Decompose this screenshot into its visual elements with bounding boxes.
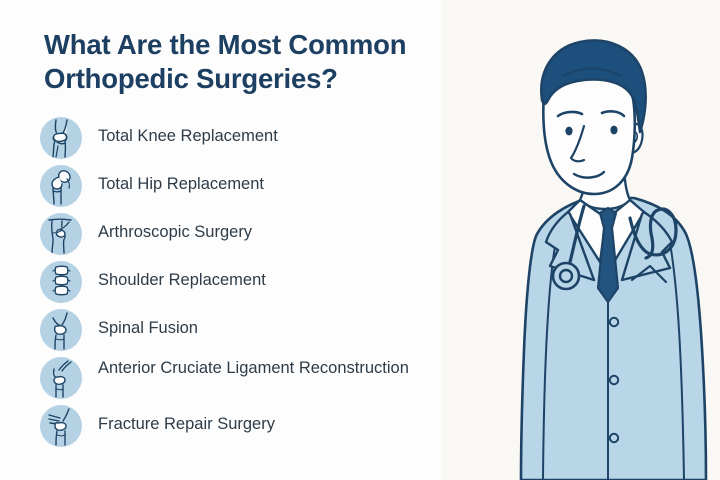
- list-item: Spinal Fusion: [40, 309, 430, 352]
- fracture-bone-icon: [40, 405, 82, 447]
- list-item: Fracture Repair Surgery: [40, 405, 430, 448]
- list-item-label: Arthroscopic Surgery: [98, 213, 430, 243]
- arthroscope-shoulder-icon: [40, 213, 82, 255]
- list-item-label: Fracture Repair Surgery: [98, 405, 430, 435]
- list-item: Anterior Cruciate Ligament Reconstructio…: [40, 357, 430, 400]
- list-item-label: Total Knee Replacement: [98, 117, 430, 147]
- list-item-label: Anterior Cruciate Ligament Reconstructio…: [98, 357, 430, 379]
- list-item: Total Knee Replacement: [40, 117, 430, 160]
- eye-left: [565, 127, 572, 136]
- stethoscope-chestpiece-inner: [560, 270, 572, 282]
- coat-button-1: [610, 318, 618, 326]
- hip-joint-icon: [40, 165, 82, 207]
- surgery-list: Total Knee Replacement Total Hip Replace…: [40, 117, 430, 453]
- title-line-2: Orthopedic Surgeries?: [44, 62, 514, 96]
- eye-right: [610, 126, 617, 135]
- coat-button-3: [610, 434, 618, 442]
- infographic-canvas: What Are the Most Common Orthopedic Surg…: [0, 0, 720, 480]
- knee-bone-icon: [40, 309, 82, 351]
- page-title: What Are the Most Common Orthopedic Surg…: [44, 28, 514, 96]
- list-item-label: Shoulder Replacement: [98, 261, 430, 291]
- coat-button-2: [610, 376, 618, 384]
- list-item-label: Total Hip Replacement: [98, 165, 430, 195]
- knee-joint-icon: [40, 117, 82, 159]
- list-item-label: Spinal Fusion: [98, 309, 430, 339]
- vertebrae-stack-icon: [40, 261, 82, 303]
- title-line-1: What Are the Most Common: [44, 28, 514, 62]
- list-item: Arthroscopic Surgery: [40, 213, 430, 256]
- list-item: Shoulder Replacement: [40, 261, 430, 304]
- list-item: Total Hip Replacement: [40, 165, 430, 208]
- acl-ligament-icon: [40, 357, 82, 399]
